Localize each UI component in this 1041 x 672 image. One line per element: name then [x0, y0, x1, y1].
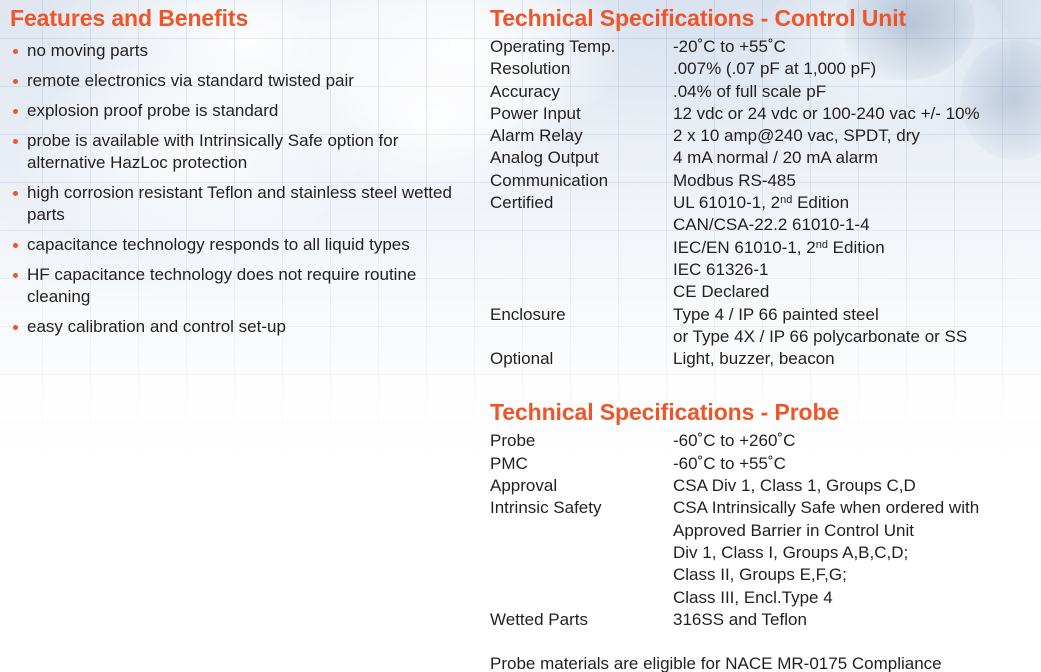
spec-row: Approved Barrier in Control Unit [490, 520, 1041, 542]
spec-value-superscript: nd [780, 194, 792, 206]
spec-label: Operating Temp. [490, 36, 673, 58]
spec-value: 2 x 10 amp@240 vac, SPDT, dry [673, 125, 1041, 147]
probe-heading: Technical Specifications - Probe [490, 398, 1041, 426]
spec-value-text: Edition [792, 193, 849, 212]
feature-list-item: probe is available with Intrinsically Sa… [10, 130, 460, 174]
spec-row: Wetted Parts316SS and Teflon [490, 609, 1041, 631]
spec-row: CertifiedUL 61010-1, 2nd Edition [490, 192, 1041, 214]
features-heading: Features and Benefits [10, 4, 460, 32]
spec-row: EnclosureType 4 / IP 66 painted steel [490, 304, 1041, 326]
spec-label: Resolution [490, 58, 673, 80]
spec-label: Optional [490, 348, 673, 370]
control-unit-heading: Technical Specifications - Control Unit [490, 4, 1041, 32]
probe-spec-table: Probe-60˚C to +260˚CPMC-60˚C to +55˚CApp… [490, 430, 1041, 631]
spec-value: CSA Intrinsically Safe when ordered with [673, 497, 1041, 519]
feature-list-item: explosion proof probe is standard [10, 100, 460, 122]
spec-value: CSA Div 1, Class 1, Groups C,D [673, 475, 1041, 497]
spec-row: Resolution.007% (.07 pF at 1,000 pF) [490, 58, 1041, 80]
spec-value: IEC 61326-1 [673, 259, 1041, 281]
spec-value: -60˚C to +55˚C [673, 453, 1041, 475]
spec-row: or Type 4X / IP 66 polycarbonate or SS [490, 326, 1041, 348]
spec-row: IEC/EN 61010-1, 2nd Edition [490, 237, 1041, 259]
spec-value: UL 61010-1, 2nd Edition [673, 192, 1041, 214]
spec-row: Intrinsic SafetyCSA Intrinsically Safe w… [490, 497, 1041, 519]
spec-value: CAN/CSA-22.2 61010-1-4 [673, 214, 1041, 236]
spec-label: PMC [490, 453, 673, 475]
features-list: no moving partsremote electronics via st… [10, 40, 460, 338]
spec-label: Communication [490, 170, 673, 192]
spec-value: Type 4 / IP 66 painted steel [673, 304, 1041, 326]
spec-value: 4 mA normal / 20 mA alarm [673, 147, 1041, 169]
spec-row: IEC 61326-1 [490, 259, 1041, 281]
spec-value: Class III, Encl.Type 4 [673, 587, 1041, 609]
feature-list-item: no moving parts [10, 40, 460, 62]
spec-label: Alarm Relay [490, 125, 673, 147]
spec-value-text: IEC/EN 61010-1, 2 [673, 238, 816, 257]
spec-label: Certified [490, 192, 673, 214]
spec-row: Alarm Relay2 x 10 amp@240 vac, SPDT, dry [490, 125, 1041, 147]
spec-row: Accuracy.04% of full scale pF [490, 81, 1041, 103]
spec-label: Wetted Parts [490, 609, 673, 631]
spec-label: Accuracy [490, 81, 673, 103]
spec-value-text: Edition [828, 238, 885, 257]
spec-row: Class II, Groups E,F,G; [490, 564, 1041, 586]
spec-value: or Type 4X / IP 66 polycarbonate or SS [673, 326, 1041, 348]
spec-value: -20˚C to +55˚C [673, 36, 1041, 58]
feature-list-item: HF capacitance technology does not requi… [10, 264, 460, 308]
spec-value-text: UL 61010-1, 2 [673, 193, 780, 212]
spec-value: Light, buzzer, beacon [673, 348, 1041, 370]
feature-list-item: easy calibration and control set-up [10, 316, 460, 338]
spec-label: Power Input [490, 103, 673, 125]
spec-row: CAN/CSA-22.2 61010-1-4 [490, 214, 1041, 236]
spec-row: OptionalLight, buzzer, beacon [490, 348, 1041, 370]
spec-row: ApprovalCSA Div 1, Class 1, Groups C,D [490, 475, 1041, 497]
spec-value: Div 1, Class I, Groups A,B,C,D; [673, 542, 1041, 564]
spec-value: CE Declared [673, 281, 1041, 303]
spec-label: Analog Output [490, 147, 673, 169]
spec-row: Div 1, Class I, Groups A,B,C,D; [490, 542, 1041, 564]
spec-value: 316SS and Teflon [673, 609, 1041, 631]
spec-row: CE Declared [490, 281, 1041, 303]
spec-row: PMC-60˚C to +55˚C [490, 453, 1041, 475]
spec-value: Class II, Groups E,F,G; [673, 564, 1041, 586]
control-unit-spec-block: Technical Specifications - Control Unit … [490, 4, 1041, 370]
feature-list-item: capacitance technology responds to all l… [10, 234, 460, 256]
spec-label: Enclosure [490, 304, 673, 326]
features-column: Features and Benefits no moving partsrem… [10, 4, 460, 346]
spec-value-superscript: nd [816, 239, 828, 251]
probe-spec-block: Technical Specifications - Probe Probe-6… [490, 398, 1041, 672]
feature-list-item: remote electronics via standard twisted … [10, 70, 460, 92]
probe-compliance-note: Probe materials are eligible for NACE MR… [490, 653, 1041, 672]
spec-label: Intrinsic Safety [490, 497, 673, 519]
spec-value: .04% of full scale pF [673, 81, 1041, 103]
spec-label: Probe [490, 430, 673, 452]
specifications-column: Technical Specifications - Control Unit … [490, 4, 1041, 672]
spec-value: IEC/EN 61010-1, 2nd Edition [673, 237, 1041, 259]
spec-value: Modbus RS-485 [673, 170, 1041, 192]
spec-label: Approval [490, 475, 673, 497]
spec-row: Power Input12 vdc or 24 vdc or 100-240 v… [490, 103, 1041, 125]
spec-value: Approved Barrier in Control Unit [673, 520, 1041, 542]
spec-row: Class III, Encl.Type 4 [490, 587, 1041, 609]
spec-value: -60˚C to +260˚C [673, 430, 1041, 452]
spec-value: .007% (.07 pF at 1,000 pF) [673, 58, 1041, 80]
spec-value: 12 vdc or 24 vdc or 100-240 vac +/- 10% [673, 103, 1041, 125]
control-unit-spec-table: Operating Temp.-20˚C to +55˚CResolution.… [490, 36, 1041, 370]
spec-row: CommunicationModbus RS-485 [490, 170, 1041, 192]
spec-row: Analog Output4 mA normal / 20 mA alarm [490, 147, 1041, 169]
spec-sheet-page: Features and Benefits no moving partsrem… [0, 0, 1041, 672]
feature-list-item: high corrosion resistant Teflon and stai… [10, 182, 460, 226]
spec-row: Probe-60˚C to +260˚C [490, 430, 1041, 452]
spec-row: Operating Temp.-20˚C to +55˚C [490, 36, 1041, 58]
